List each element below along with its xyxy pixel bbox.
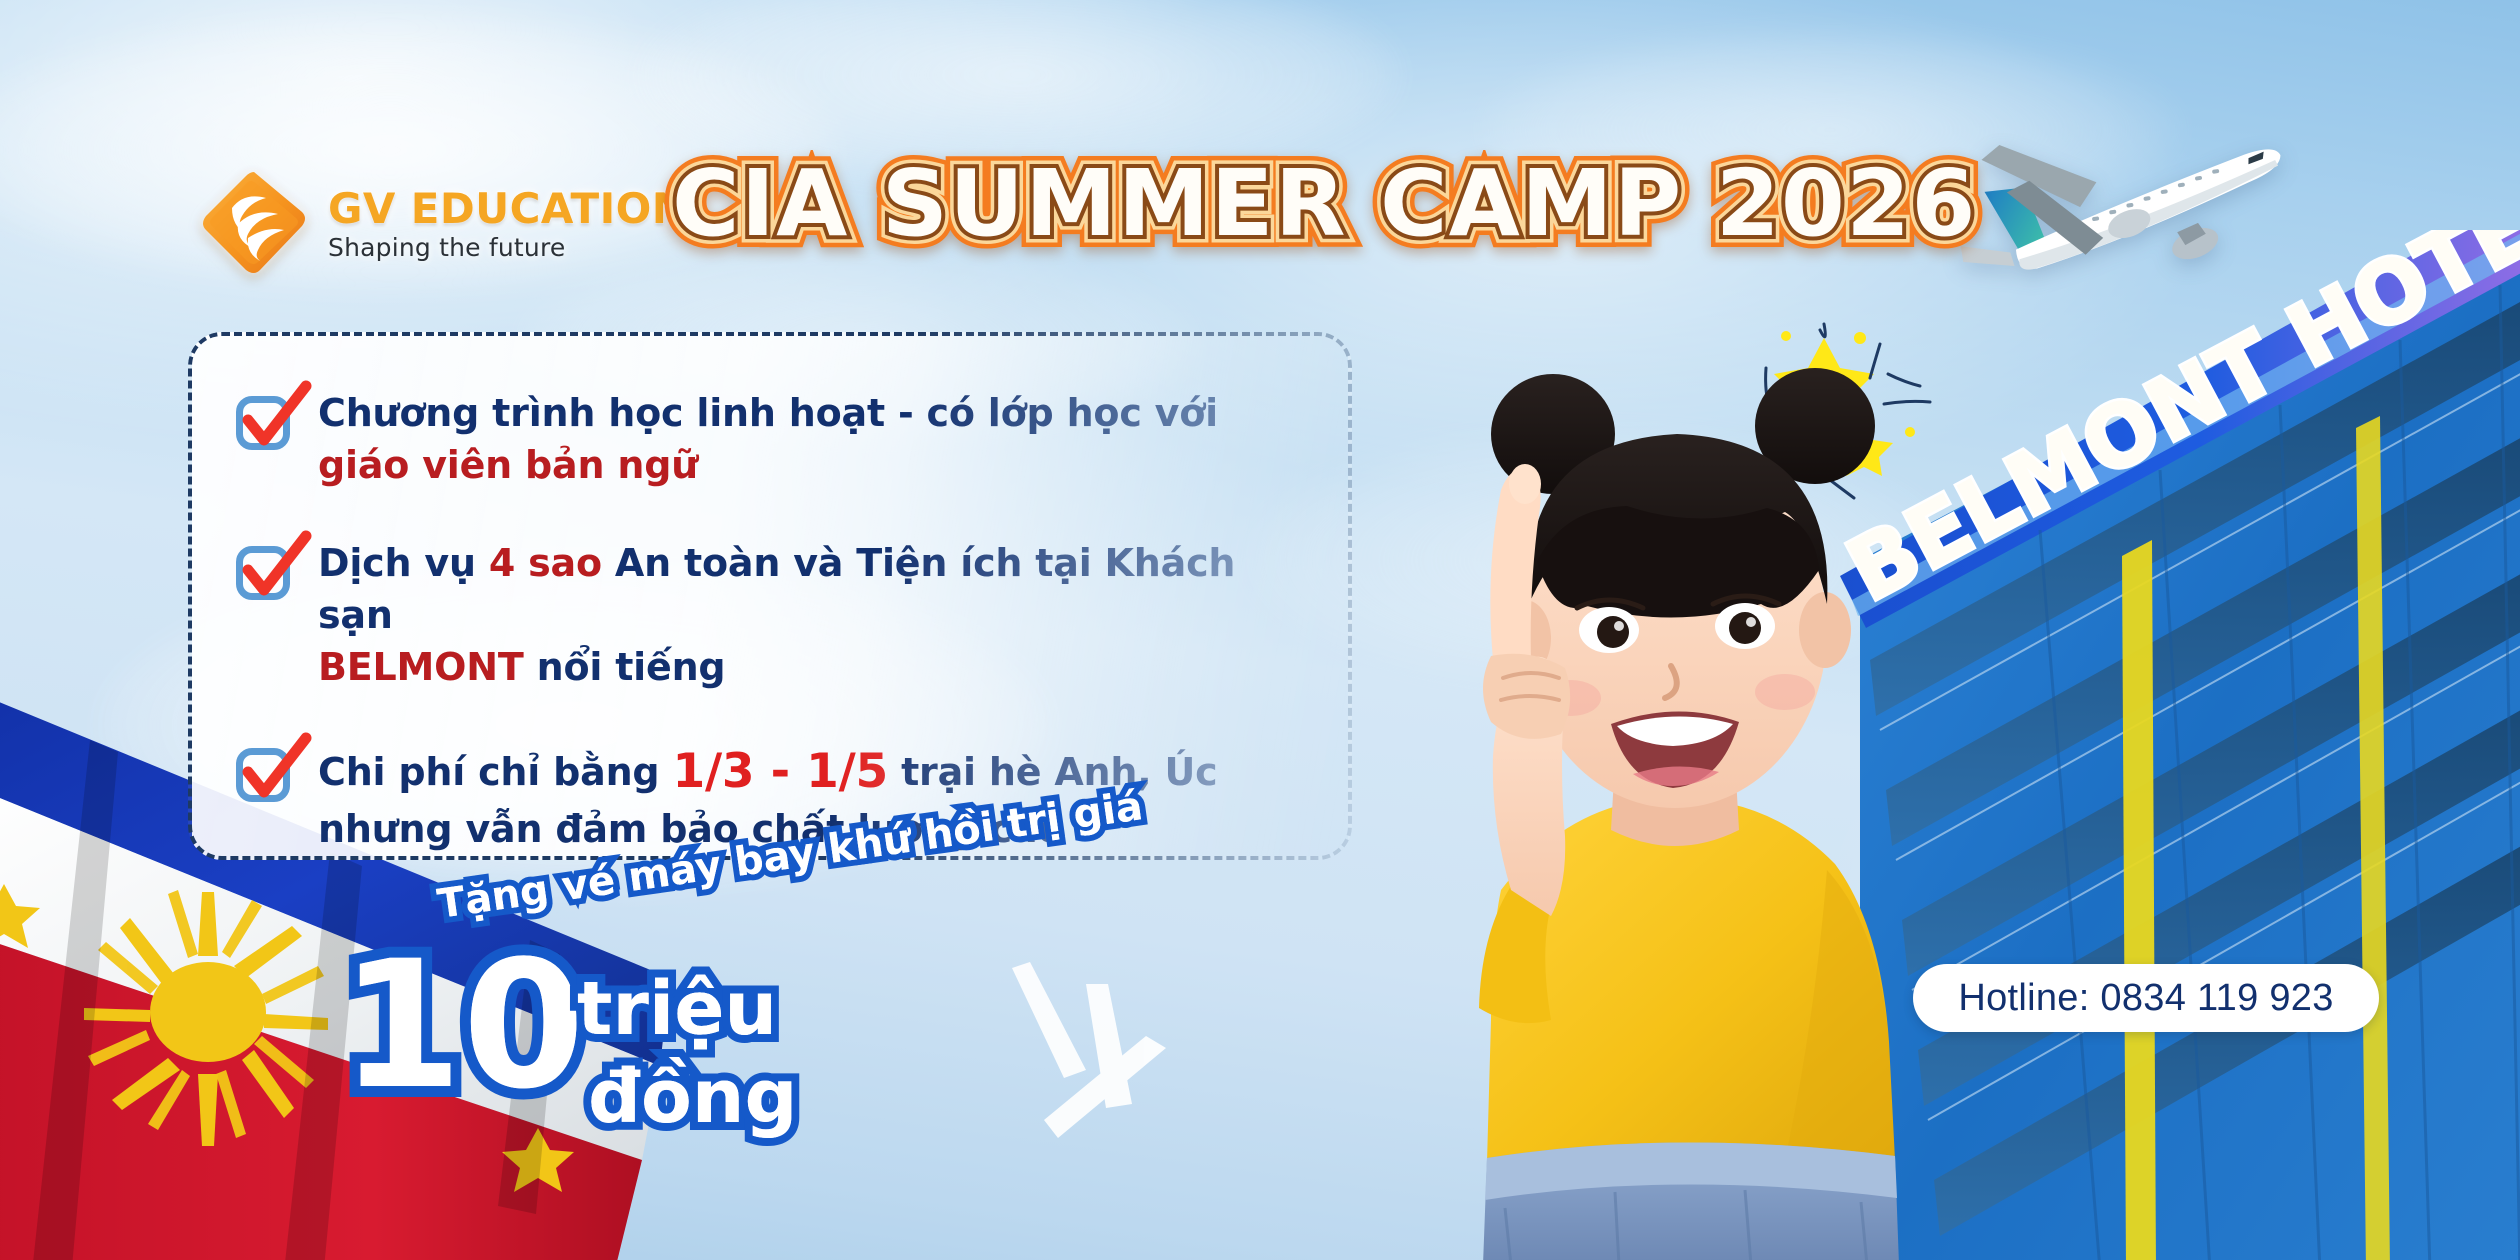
promo-unit-1: triệu: [577, 972, 777, 1046]
feature-item: Chương trình học linh hoạt - có lớp học …: [236, 388, 1308, 491]
promo-offer: Tặng vé máy bay khứ hồi trị giá Tặng vé …: [392, 860, 1092, 1190]
feature-2-part-3: nổi tiếng: [524, 645, 726, 689]
feature-2-highlight-2: BELMONT: [318, 645, 524, 689]
gv-education-logo-icon: [198, 168, 310, 280]
hotline-label: Hotline: 0834 119 923: [1958, 977, 2333, 1020]
brand-name: GV EDUCATION: [328, 188, 687, 230]
page-title: CIA SUMMER CAMP 2026 CIA SUMMER CAMP 202…: [672, 150, 1977, 257]
feature-2-highlight-1: 4 sao: [489, 541, 602, 585]
checkbox-check-icon: [236, 546, 290, 600]
feature-3-highlight: 1/3 - 1/5: [672, 744, 888, 799]
feature-item: Dịch vụ 4 sao An toàn và Tiện ích tại Kh…: [236, 538, 1308, 693]
brand-logo-text: GV EDUCATION Shaping the future: [328, 188, 687, 260]
feature-1-line-2: giáo viên bản ngữ: [318, 443, 698, 487]
feature-1-line-1: Chương trình học linh hoạt - có lớp học …: [318, 391, 1218, 435]
feature-3-part-2: trại hè Anh, Úc: [888, 750, 1217, 794]
promo-unit-2: đồng: [588, 1060, 797, 1134]
promo-banner: BELMONT HOTEL: [0, 0, 2520, 1260]
hotline-badge[interactable]: Hotline: 0834 119 923: [1913, 964, 2379, 1032]
checkbox-check-icon: [236, 748, 290, 802]
airplane-icon: [1950, 108, 2300, 298]
brand-logo[interactable]: GV EDUCATION Shaping the future: [198, 168, 687, 280]
smiling-girl-photo: [1315, 330, 2035, 1260]
feature-text: Chương trình học linh hoạt - có lớp học …: [318, 388, 1218, 491]
promo-amount: 10: [340, 938, 585, 1114]
page-title-fill: CIA SUMMER CAMP 2026: [672, 150, 1977, 257]
feature-2-part-1: Dịch vụ: [318, 541, 489, 585]
feature-3-part-1: Chi phí chỉ bằng: [318, 750, 672, 794]
feature-text: Dịch vụ 4 sao An toàn và Tiện ích tại Kh…: [318, 538, 1308, 693]
features-panel: Chương trình học linh hoạt - có lớp học …: [188, 332, 1352, 860]
brand-tagline: Shaping the future: [328, 235, 687, 260]
checkbox-check-icon: [236, 396, 290, 450]
